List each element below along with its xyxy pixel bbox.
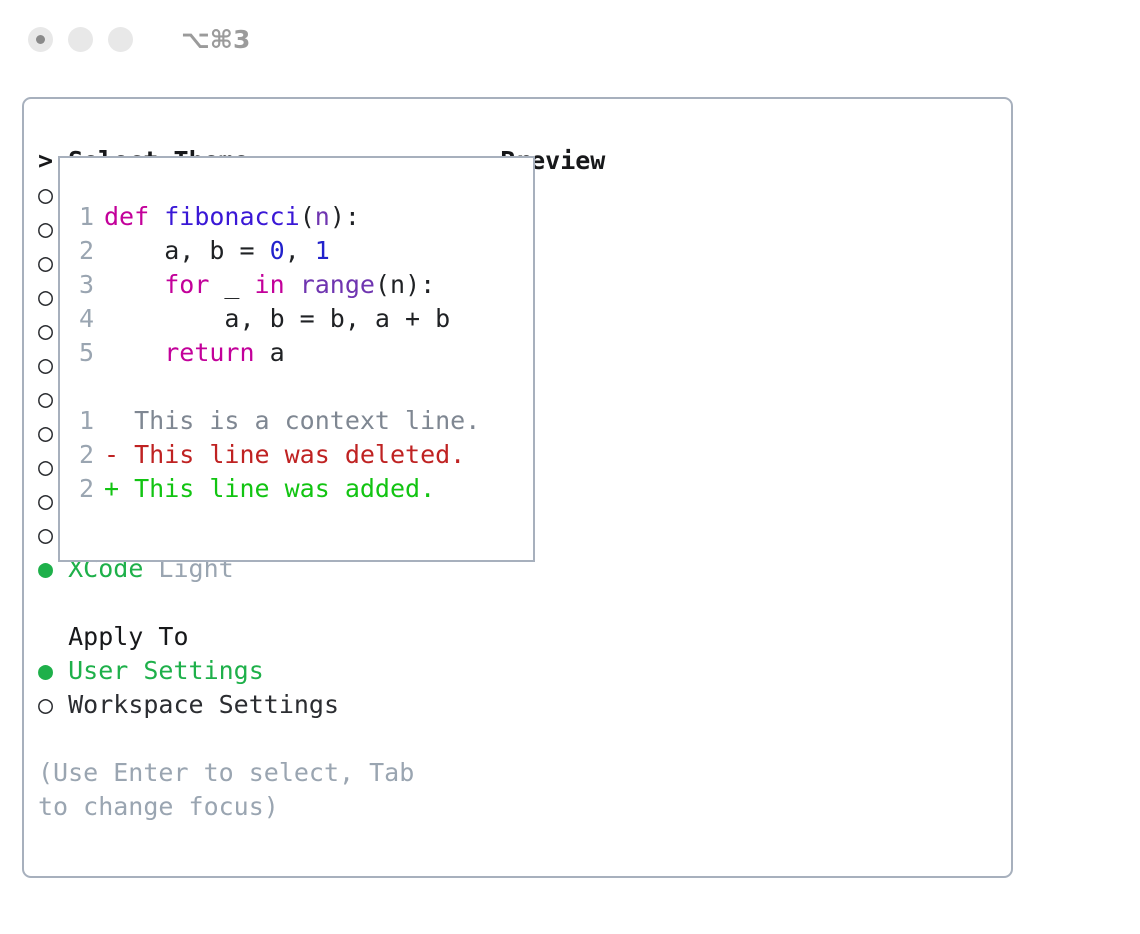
code-line-text: for _ in range(n):	[104, 268, 435, 302]
diff-line-text-add: + This line was added.	[104, 472, 435, 506]
code-line-row: 3 for _ in range(n):	[60, 268, 533, 302]
code-line-number: 3	[60, 268, 104, 302]
code-token-var: n	[315, 202, 330, 231]
code-line-row: 2 a, b = 0, 1	[60, 234, 533, 268]
radio-unselected-icon: ○	[38, 520, 53, 549]
code-token-num: 0	[270, 236, 285, 265]
code-token-plain: ,	[285, 236, 315, 265]
code-line-text: return a	[104, 336, 285, 370]
code-line-number: 2	[60, 234, 104, 268]
window-dot-active[interactable]	[28, 27, 53, 52]
radio-unselected-icon: ○	[38, 690, 53, 719]
code-token-kw: in	[255, 270, 285, 299]
diff-line-row: 1 This is a context line.	[60, 404, 533, 438]
code-token-plain: (n):	[375, 270, 435, 299]
code-token-plain: ):	[330, 202, 360, 231]
radio-unselected-icon: ○	[38, 180, 53, 209]
code-line-text: def fibonacci(n):	[104, 200, 360, 234]
radio-unselected-icon: ○	[38, 486, 53, 515]
radio-unselected-icon: ○	[38, 248, 53, 277]
radio-unselected-icon: ○	[38, 214, 53, 243]
preview-heading: Preview	[500, 144, 1000, 178]
code-token-plain	[285, 270, 300, 299]
code-token-plain: a, b =	[104, 236, 270, 265]
hint-spacer	[38, 722, 488, 756]
diff-line-row: 2+ This line was added.	[60, 472, 533, 506]
radio-unselected-icon: ○	[38, 384, 53, 413]
code-line-row: 1def fibonacci(n):	[60, 200, 533, 234]
apply-to-option-name: Workspace Settings	[53, 690, 339, 719]
code-line-number: 5	[60, 336, 104, 370]
code-line-text: a, b = b, a + b	[104, 302, 450, 336]
code-token-plain	[104, 270, 164, 299]
diff-line-number: 2	[60, 438, 104, 472]
apply-to-label: Apply To	[38, 620, 488, 654]
code-token-plain	[104, 338, 164, 367]
code-token-plain: a, b = b, a + b	[104, 304, 450, 333]
apply-to-option-name: User Settings	[53, 656, 264, 685]
diff-line-row: 2- This line was deleted.	[60, 438, 533, 472]
code-line-number: 4	[60, 302, 104, 336]
apply-to-option-0[interactable]: ● User Settings	[38, 654, 488, 688]
apply-to-option-1[interactable]: ○ Workspace Settings	[38, 688, 488, 722]
window-dot-second[interactable]	[68, 27, 93, 52]
code-line-text: a, b = 0, 1	[104, 234, 330, 268]
code-blank-line	[60, 370, 533, 404]
code-line-number: 1	[60, 200, 104, 234]
section-spacer	[38, 586, 488, 620]
preview-column: Preview	[500, 144, 1000, 178]
code-token-kw: for	[164, 270, 209, 299]
apply-to-list: ● User Settings○ Workspace Settings	[38, 654, 488, 722]
window-dot-third[interactable]	[108, 27, 133, 52]
radio-unselected-icon: ○	[38, 452, 53, 481]
code-token-fn: fibonacci	[164, 202, 299, 231]
main-panel: > Select Theme ○ ANSI Dark○ Atom One Dar…	[22, 97, 1013, 878]
diff-line-text-del: - This line was deleted.	[104, 438, 465, 472]
keyboard-hint-text: (Use Enter to select, Tab to change focu…	[38, 756, 448, 824]
code-token-kw: return	[164, 338, 254, 367]
radio-unselected-icon: ○	[38, 282, 53, 311]
code-token-plain: a	[255, 338, 285, 367]
code-token-var: range	[300, 270, 375, 299]
code-line-row: 4 a, b = b, a + b	[60, 302, 533, 336]
diff-line-text-ctx: This is a context line.	[104, 404, 480, 438]
code-token-plain: (	[300, 202, 315, 231]
radio-selected-icon: ●	[38, 554, 53, 583]
radio-unselected-icon: ○	[38, 316, 53, 345]
diff-line-number: 2	[60, 472, 104, 506]
diff-line-number: 1	[60, 404, 104, 438]
code-token-num: 1	[315, 236, 330, 265]
window-dot-active-inner	[36, 35, 45, 44]
radio-unselected-icon: ○	[38, 350, 53, 379]
code-preview: 1def fibonacci(n):2 a, b = 0, 13 for _ i…	[60, 200, 533, 506]
keyboard-shortcut-label: ⌥⌘3	[181, 25, 250, 54]
code-token-kw: def	[104, 202, 164, 231]
app-window: ⌥⌘3 > Select Theme ○ ANSI Dark○ Atom One…	[0, 0, 1140, 934]
preview-box: 1def fibonacci(n):2 a, b = 0, 13 for _ i…	[58, 156, 535, 562]
code-token-plain: _	[209, 270, 254, 299]
titlebar: ⌥⌘3	[0, 0, 1140, 78]
code-line-row: 5 return a	[60, 336, 533, 370]
radio-unselected-icon: ○	[38, 418, 53, 447]
radio-selected-icon: ●	[38, 656, 53, 685]
